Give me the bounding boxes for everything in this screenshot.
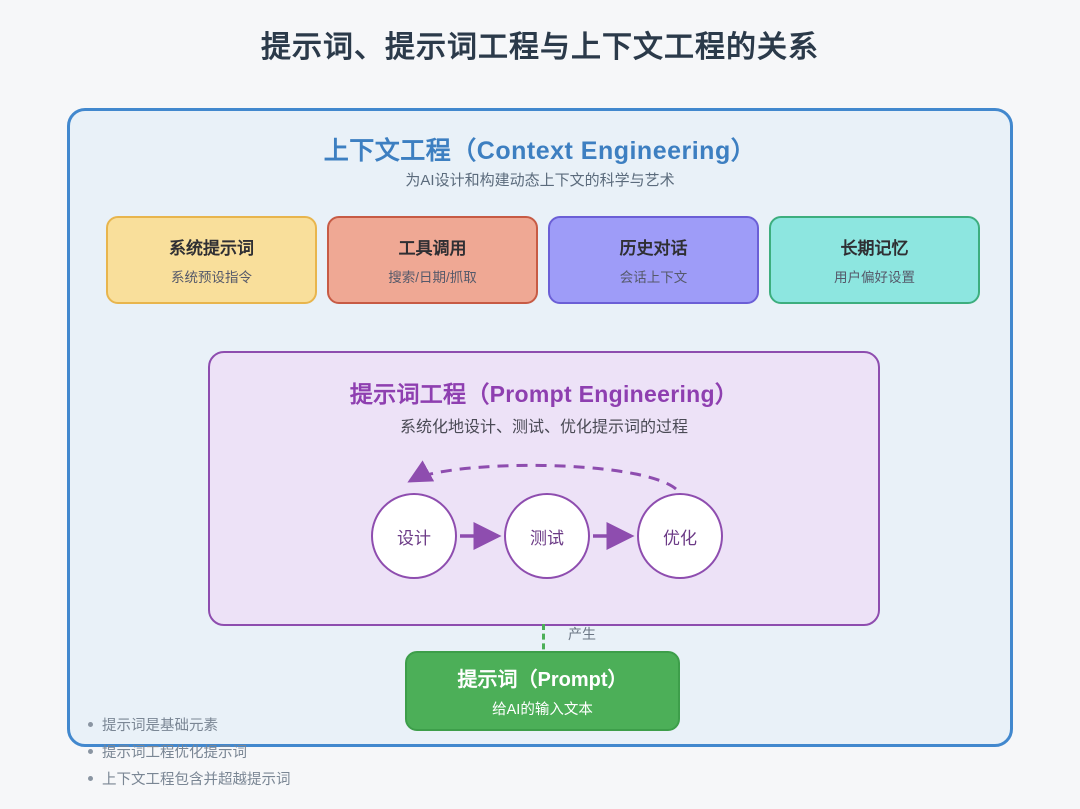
cycle-node-label: 测试 [530,524,564,549]
legend-item-label: 上下文工程包含并超越提示词 [102,768,291,789]
bullet-icon [88,749,93,754]
component-card-long-term-memory[interactable]: 长期记忆 用户偏好设置 [769,216,980,304]
prompt-engineering-cycle: 设计 测试 优化 [210,451,878,591]
legend-item-label: 提示词是基础元素 [102,714,218,735]
component-title: 历史对话 [620,234,688,259]
context-components-row: 系统提示词 系统预设指令 工具调用 搜索/日期/抓取 历史对话 会话上下文 长期… [106,216,980,304]
legend-list: 提示词是基础元素 提示词工程优化提示词 上下文工程包含并超越提示词 [88,711,508,792]
page-title: 提示词、提示词工程与上下文工程的关系 [0,22,1080,66]
prompt-engineering-subtitle: 系统化地设计、测试、优化提示词的过程 [210,413,878,437]
context-engineering-subtitle: 为AI设计和构建动态上下文的科学与艺术 [70,169,1010,190]
legend-item-label: 提示词工程优化提示词 [102,741,247,762]
bullet-icon [88,776,93,781]
context-engineering-container: 上下文工程（Context Engineering） 为AI设计和构建动态上下文… [67,108,1013,747]
legend-item: 提示词是基础元素 [88,711,508,738]
bullet-icon [88,722,93,727]
cycle-node-design[interactable]: 设计 [371,493,457,579]
cycle-node-label: 设计 [397,524,431,549]
component-card-system-prompt[interactable]: 系统提示词 系统预设指令 [106,216,317,304]
component-card-history-dialogue[interactable]: 历史对话 会话上下文 [548,216,759,304]
prompt-engineering-container: 提示词工程（Prompt Engineering） 系统化地设计、测试、优化提示… [208,351,880,626]
component-title: 工具调用 [399,234,467,259]
component-subtitle: 用户偏好设置 [834,266,915,286]
component-title: 系统提示词 [169,234,254,259]
legend-item: 上下文工程包含并超越提示词 [88,765,508,792]
component-subtitle: 搜索/日期/抓取 [388,266,477,286]
component-subtitle: 系统预设指令 [171,266,252,286]
prompt-title: 提示词（Prompt） [458,663,628,692]
context-engineering-title: 上下文工程（Context Engineering） [70,131,1010,167]
component-subtitle: 会话上下文 [620,266,688,286]
legend-item: 提示词工程优化提示词 [88,738,508,765]
produce-connector-label: 产生 [568,624,596,644]
component-title: 长期记忆 [841,234,909,259]
prompt-engineering-title: 提示词工程（Prompt Engineering） [210,375,878,409]
cycle-node-label: 优化 [663,524,697,549]
arrow-optimize-to-design-feedback [410,465,676,489]
cycle-node-optimize[interactable]: 优化 [637,493,723,579]
component-card-tool-call[interactable]: 工具调用 搜索/日期/抓取 [327,216,538,304]
cycle-node-test[interactable]: 测试 [504,493,590,579]
